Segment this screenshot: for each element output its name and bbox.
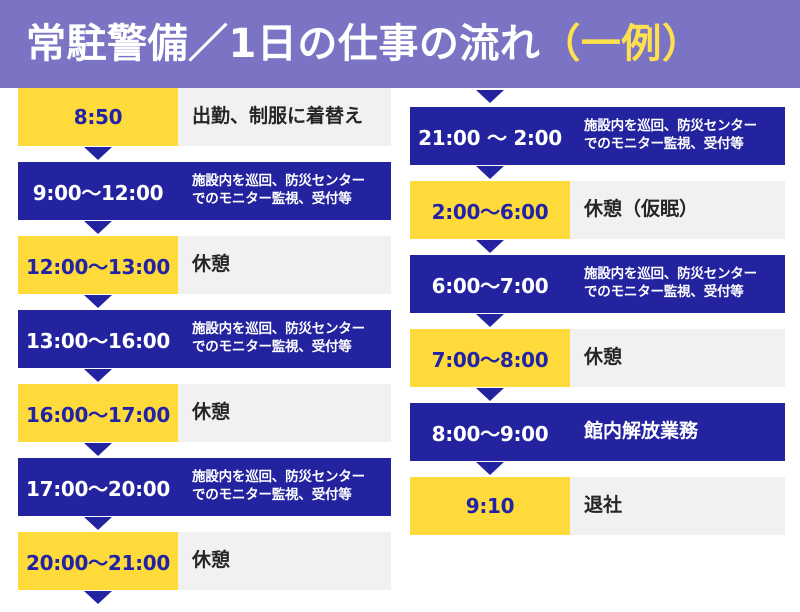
page-title: 常駐警備／1日の仕事の流れ（一例） xyxy=(26,23,702,65)
timeline-row: 6:00〜7:00施設内を巡回、防災センターでのモニター監視、受付等 xyxy=(410,255,785,313)
description-line-2: でのモニター監視、受付等 xyxy=(192,191,365,209)
timeline-columns: 8:50出勤、制服に着替え9:00〜12:00施設内を巡回、防災センターでのモニ… xyxy=(0,88,800,600)
timeline-row-description: 休憩 xyxy=(178,236,391,294)
flow-arrow-connector xyxy=(410,313,785,329)
timeline-row-description: 休憩 xyxy=(178,384,391,442)
timeline-row-description-text: 施設内を巡回、防災センターでのモニター監視、受付等 xyxy=(192,173,365,208)
description-line-2: でのモニター監視、受付等 xyxy=(584,284,757,302)
timeline-row-time: 8:00〜9:00 xyxy=(410,403,570,461)
arrow-down-icon xyxy=(476,240,504,253)
flow-arrow-connector xyxy=(18,442,391,458)
arrow-down-icon xyxy=(476,462,504,475)
timeline-row-time: 8:50 xyxy=(18,88,178,146)
timeline-row-description: 休憩 xyxy=(570,329,785,387)
arrow-down-icon xyxy=(84,147,112,160)
header-banner: 常駐警備／1日の仕事の流れ（一例） xyxy=(0,0,800,88)
timeline-row-description-text: 施設内を巡回、防災センターでのモニター監視、受付等 xyxy=(584,266,757,301)
timeline-row-description-text: 休憩 xyxy=(192,549,230,573)
timeline-row-time: 6:00〜7:00 xyxy=(410,255,570,313)
arrow-down-icon xyxy=(476,388,504,401)
description-line-1: 施設内を巡回、防災センター xyxy=(192,321,365,339)
timeline-row-description-text: 休憩（仮眠） xyxy=(584,198,698,222)
timeline-row-description-text: 退社 xyxy=(584,494,622,518)
timeline-row: 13:00〜16:00施設内を巡回、防災センターでのモニター監視、受付等 xyxy=(18,310,391,368)
arrow-down-icon xyxy=(84,295,112,308)
timeline-row: 8:00〜9:00館内解放業務 xyxy=(410,403,785,461)
timeline-row: 2:00〜6:00休憩（仮眠） xyxy=(410,181,785,239)
flow-arrow-connector xyxy=(18,368,391,384)
description-line-2: でのモニター監視、受付等 xyxy=(584,136,757,154)
timeline-row: 21:00 〜 2:00施設内を巡回、防災センターでのモニター監視、受付等 xyxy=(410,107,785,165)
timeline-row-description-text: 休憩 xyxy=(584,346,622,370)
arrow-down-icon xyxy=(476,166,504,179)
flow-arrow-connector xyxy=(18,146,391,162)
timeline-row-time: 13:00〜16:00 xyxy=(18,310,178,368)
timeline-row-description: 休憩 xyxy=(178,532,391,590)
flow-arrow-connector xyxy=(410,165,785,181)
description-line-2: でのモニター監視、受付等 xyxy=(192,339,365,357)
timeline-row: 12:00〜13:00休憩 xyxy=(18,236,391,294)
timeline-row-description-text: 施設内を巡回、防災センターでのモニター監視、受付等 xyxy=(192,469,365,504)
flow-arrow-connector-tail xyxy=(18,590,391,612)
timeline-row: 8:50出勤、制服に着替え xyxy=(18,88,391,146)
timeline-row: 9:00〜12:00施設内を巡回、防災センターでのモニター監視、受付等 xyxy=(18,162,391,220)
timeline-row-description: 施設内を巡回、防災センターでのモニター監視、受付等 xyxy=(178,310,391,368)
timeline-row-description-text: 出勤、制服に着替え xyxy=(192,105,363,129)
timeline-row-description: 退社 xyxy=(570,477,785,535)
timeline-row-time: 12:00〜13:00 xyxy=(18,236,178,294)
timeline-row-description-text: 館内解放業務 xyxy=(584,420,698,444)
arrow-down-icon xyxy=(84,443,112,456)
timeline-row-description: 館内解放業務 xyxy=(570,403,785,461)
timeline-row-time: 17:00〜20:00 xyxy=(18,458,178,516)
page-title-main: 常駐警備／1日の仕事の流れ xyxy=(26,21,540,67)
timeline-row: 7:00〜8:00休憩 xyxy=(410,329,785,387)
timeline-row-description-text: 休憩 xyxy=(192,401,230,425)
timeline-column-left: 8:50出勤、制服に着替え9:00〜12:00施設内を巡回、防災センターでのモニ… xyxy=(18,88,391,612)
infographic-page: 常駐警備／1日の仕事の流れ（一例） 8:50出勤、制服に着替え9:00〜12:0… xyxy=(0,0,800,600)
timeline-row-description-text: 施設内を巡回、防災センターでのモニター監視、受付等 xyxy=(192,321,365,356)
timeline-row-time: 7:00〜8:00 xyxy=(410,329,570,387)
timeline-row: 17:00〜20:00施設内を巡回、防災センターでのモニター監視、受付等 xyxy=(18,458,391,516)
timeline-row-time: 9:10 xyxy=(410,477,570,535)
timeline-row-description-text: 休憩 xyxy=(192,253,230,277)
description-line-1: 施設内を巡回、防災センター xyxy=(584,266,757,284)
arrow-down-icon xyxy=(476,90,504,103)
timeline-row: 9:10退社 xyxy=(410,477,785,535)
arrow-down-icon xyxy=(84,221,112,234)
timeline-row-time: 9:00〜12:00 xyxy=(18,162,178,220)
description-line-1: 施設内を巡回、防災センター xyxy=(192,173,365,191)
timeline-row-description: 出勤、制服に着替え xyxy=(178,88,391,146)
timeline-column-right: 21:00 〜 2:00施設内を巡回、防災センターでのモニター監視、受付等2:0… xyxy=(410,88,785,535)
timeline-row-time: 20:00〜21:00 xyxy=(18,532,178,590)
flow-arrow-connector-lead xyxy=(410,88,785,107)
description-line-1: 施設内を巡回、防災センター xyxy=(584,118,757,136)
flow-arrow-connector xyxy=(410,461,785,477)
page-title-accent: （一例） xyxy=(540,21,702,67)
arrow-down-icon xyxy=(84,369,112,382)
timeline-row-description: 施設内を巡回、防災センターでのモニター監視、受付等 xyxy=(178,162,391,220)
timeline-row: 16:00〜17:00休憩 xyxy=(18,384,391,442)
timeline-row-description: 休憩（仮眠） xyxy=(570,181,785,239)
timeline-row-time: 2:00〜6:00 xyxy=(410,181,570,239)
arrow-down-icon xyxy=(84,517,112,530)
timeline-row-description: 施設内を巡回、防災センターでのモニター監視、受付等 xyxy=(178,458,391,516)
timeline-row-time: 21:00 〜 2:00 xyxy=(410,107,570,165)
flow-arrow-connector xyxy=(18,220,391,236)
flow-arrow-connector xyxy=(18,516,391,532)
timeline-row: 20:00〜21:00休憩 xyxy=(18,532,391,590)
flow-arrow-connector xyxy=(410,387,785,403)
timeline-row-description: 施設内を巡回、防災センターでのモニター監視、受付等 xyxy=(570,255,785,313)
arrow-down-icon xyxy=(84,591,112,604)
arrow-down-icon xyxy=(476,314,504,327)
timeline-row-description: 施設内を巡回、防災センターでのモニター監視、受付等 xyxy=(570,107,785,165)
timeline-row-description-text: 施設内を巡回、防災センターでのモニター監視、受付等 xyxy=(584,118,757,153)
flow-arrow-connector xyxy=(410,239,785,255)
flow-arrow-connector xyxy=(18,294,391,310)
timeline-row-time: 16:00〜17:00 xyxy=(18,384,178,442)
description-line-2: でのモニター監視、受付等 xyxy=(192,487,365,505)
description-line-1: 施設内を巡回、防災センター xyxy=(192,469,365,487)
